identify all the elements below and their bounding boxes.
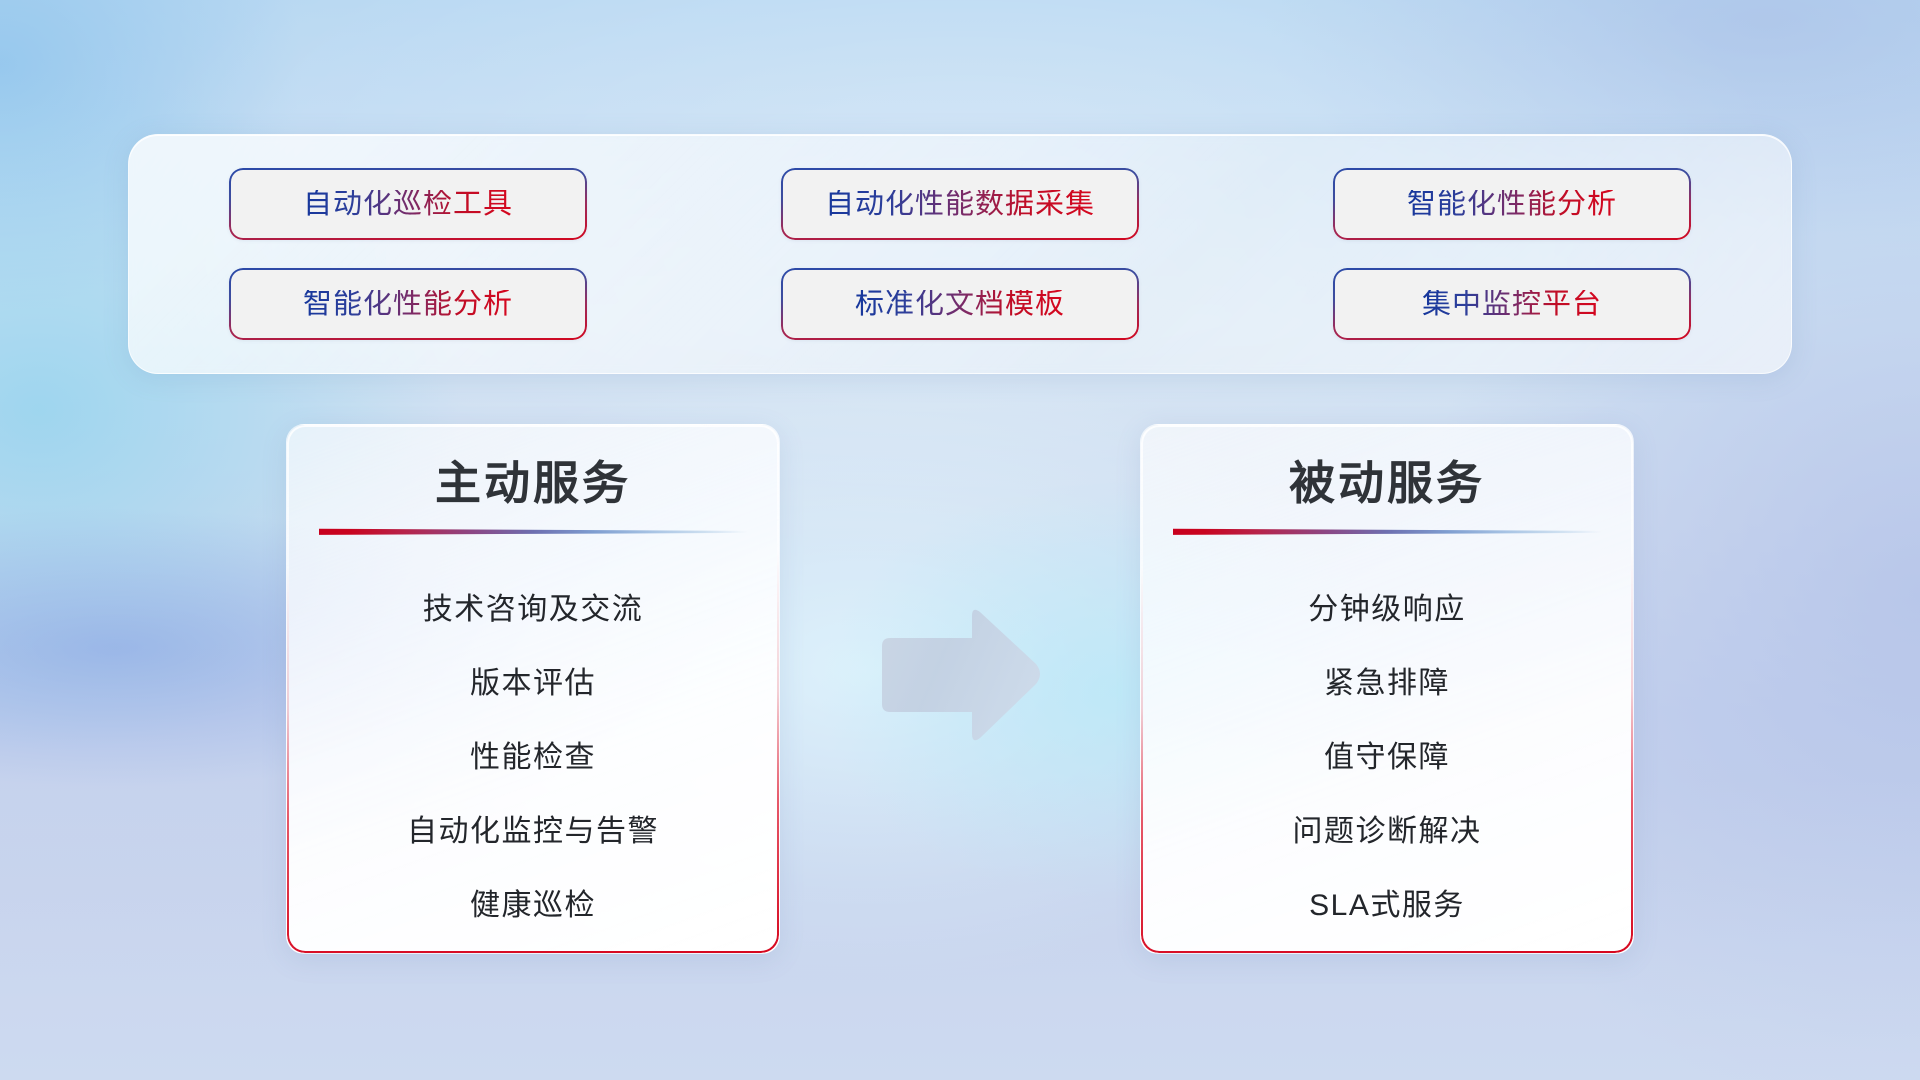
service-card-title: 被动服务	[1289, 457, 1485, 510]
service-list-item: 值守保障	[1324, 721, 1450, 795]
capabilities-pill-grid: 自动化巡检工具 自动化性能数据采集 智能化性能分析 智能化性能分析 标准化文档模…	[229, 168, 1691, 340]
service-card-reactive[interactable]: 被动服务 分钟级响应 紧急排障 值守保障 问题诊断解决 SLA式服务	[1140, 424, 1634, 954]
arrow-right-icon	[876, 604, 1044, 746]
service-list-item: 技术咨询及交流	[423, 573, 644, 647]
capability-pill-label: 集中监控平台	[1422, 290, 1602, 319]
service-list-item: 问题诊断解决	[1293, 795, 1482, 869]
service-list-item: 自动化监控与告警	[407, 795, 659, 869]
capability-pill-centralized-monitoring-platform[interactable]: 集中监控平台	[1333, 268, 1691, 340]
capability-pill-label: 自动化性能数据采集	[825, 190, 1095, 219]
capability-pill-standardized-document-template[interactable]: 标准化文档模板	[781, 268, 1139, 340]
capability-pill-label: 智能化性能分析	[1407, 190, 1617, 219]
service-list-item: SLA式服务	[1309, 869, 1465, 943]
capability-pill-intelligent-performance-analysis-top[interactable]: 智能化性能分析	[1333, 168, 1691, 240]
service-list-item: 版本评估	[470, 647, 596, 721]
capability-pill-automated-performance-data-collection[interactable]: 自动化性能数据采集	[781, 168, 1139, 240]
capability-pill-intelligent-performance-analysis-bottom[interactable]: 智能化性能分析	[229, 268, 587, 340]
service-list-item: 性能检查	[470, 721, 596, 795]
capability-pill-automated-inspection-tool[interactable]: 自动化巡检工具	[229, 168, 587, 240]
service-card-proactive[interactable]: 主动服务 技术咨询及交流 版本评估 性能检查 自动化监控与告警 健康巡检	[286, 424, 780, 954]
service-list-item: 紧急排障	[1324, 647, 1450, 721]
service-card-list: 技术咨询及交流 版本评估 性能检查 自动化监控与告警 健康巡检	[407, 573, 659, 943]
service-card-divider	[319, 528, 747, 535]
service-list-item: 健康巡检	[470, 869, 596, 943]
service-list-item: 分钟级响应	[1308, 573, 1466, 647]
service-card-list: 分钟级响应 紧急排障 值守保障 问题诊断解决 SLA式服务	[1293, 573, 1482, 943]
capability-pill-label: 智能化性能分析	[303, 290, 513, 319]
service-card-title: 主动服务	[435, 457, 631, 510]
capability-pill-label: 自动化巡检工具	[303, 190, 513, 219]
capability-pill-label: 标准化文档模板	[855, 290, 1065, 319]
service-card-inner: 主动服务 技术咨询及交流 版本评估 性能检查 自动化监控与告警 健康巡检	[287, 425, 779, 953]
service-card-inner: 被动服务 分钟级响应 紧急排障 值守保障 问题诊断解决 SLA式服务	[1141, 425, 1633, 953]
capabilities-panel: 自动化巡检工具 自动化性能数据采集 智能化性能分析 智能化性能分析 标准化文档模…	[128, 134, 1792, 374]
service-card-divider	[1173, 528, 1601, 535]
